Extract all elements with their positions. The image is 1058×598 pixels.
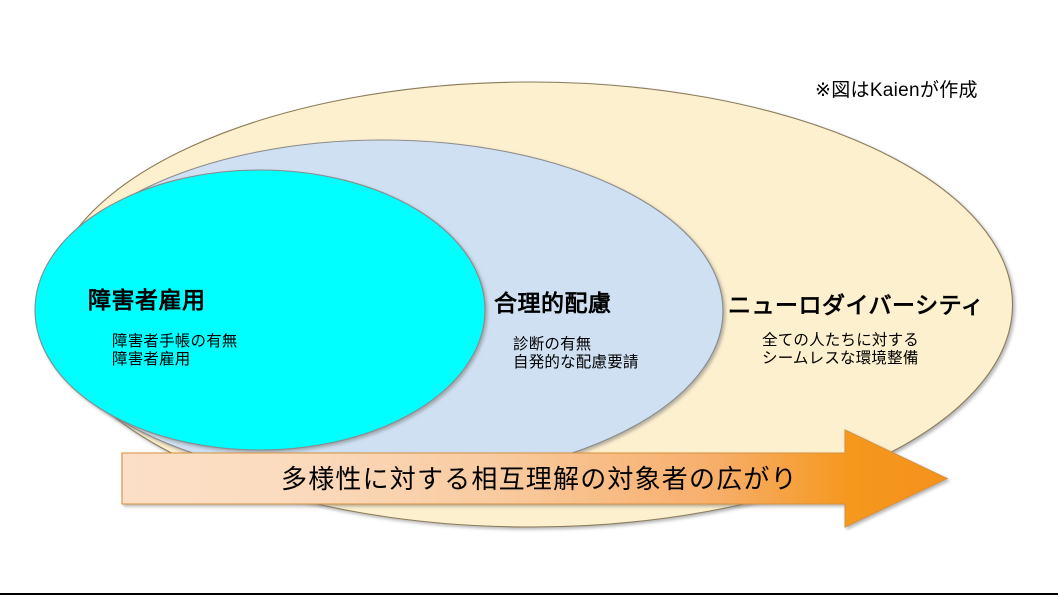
ellipse-title-neurodiversity: ニューロダイバーシティ [728,292,984,319]
growth-arrow-label: 多様性に対する相互理解の対象者の広がり [281,464,798,494]
diagram-canvas: 障害者雇用 障害者手帳の有無 障害者雇用 合理的配慮 診断の有無 自発的な配慮要… [0,0,1058,598]
ellipse-subtitle-reasonable-accommodation: 診断の有無 自発的な配慮要請 [513,336,639,372]
ellipse-subtitle-neurodiversity: 全ての人たちに対する シームレスな環境整備 [762,332,919,368]
credit-note: ※図はKaienが作成 [815,80,978,102]
ellipse-subtitle-disability-employment: 障害者手帳の有無 障害者雇用 [112,333,238,369]
ellipse-title-disability-employment: 障害者雇用 [88,287,206,314]
ellipse-title-reasonable-accommodation: 合理的配慮 [494,290,612,317]
bottom-divider [0,593,1058,595]
